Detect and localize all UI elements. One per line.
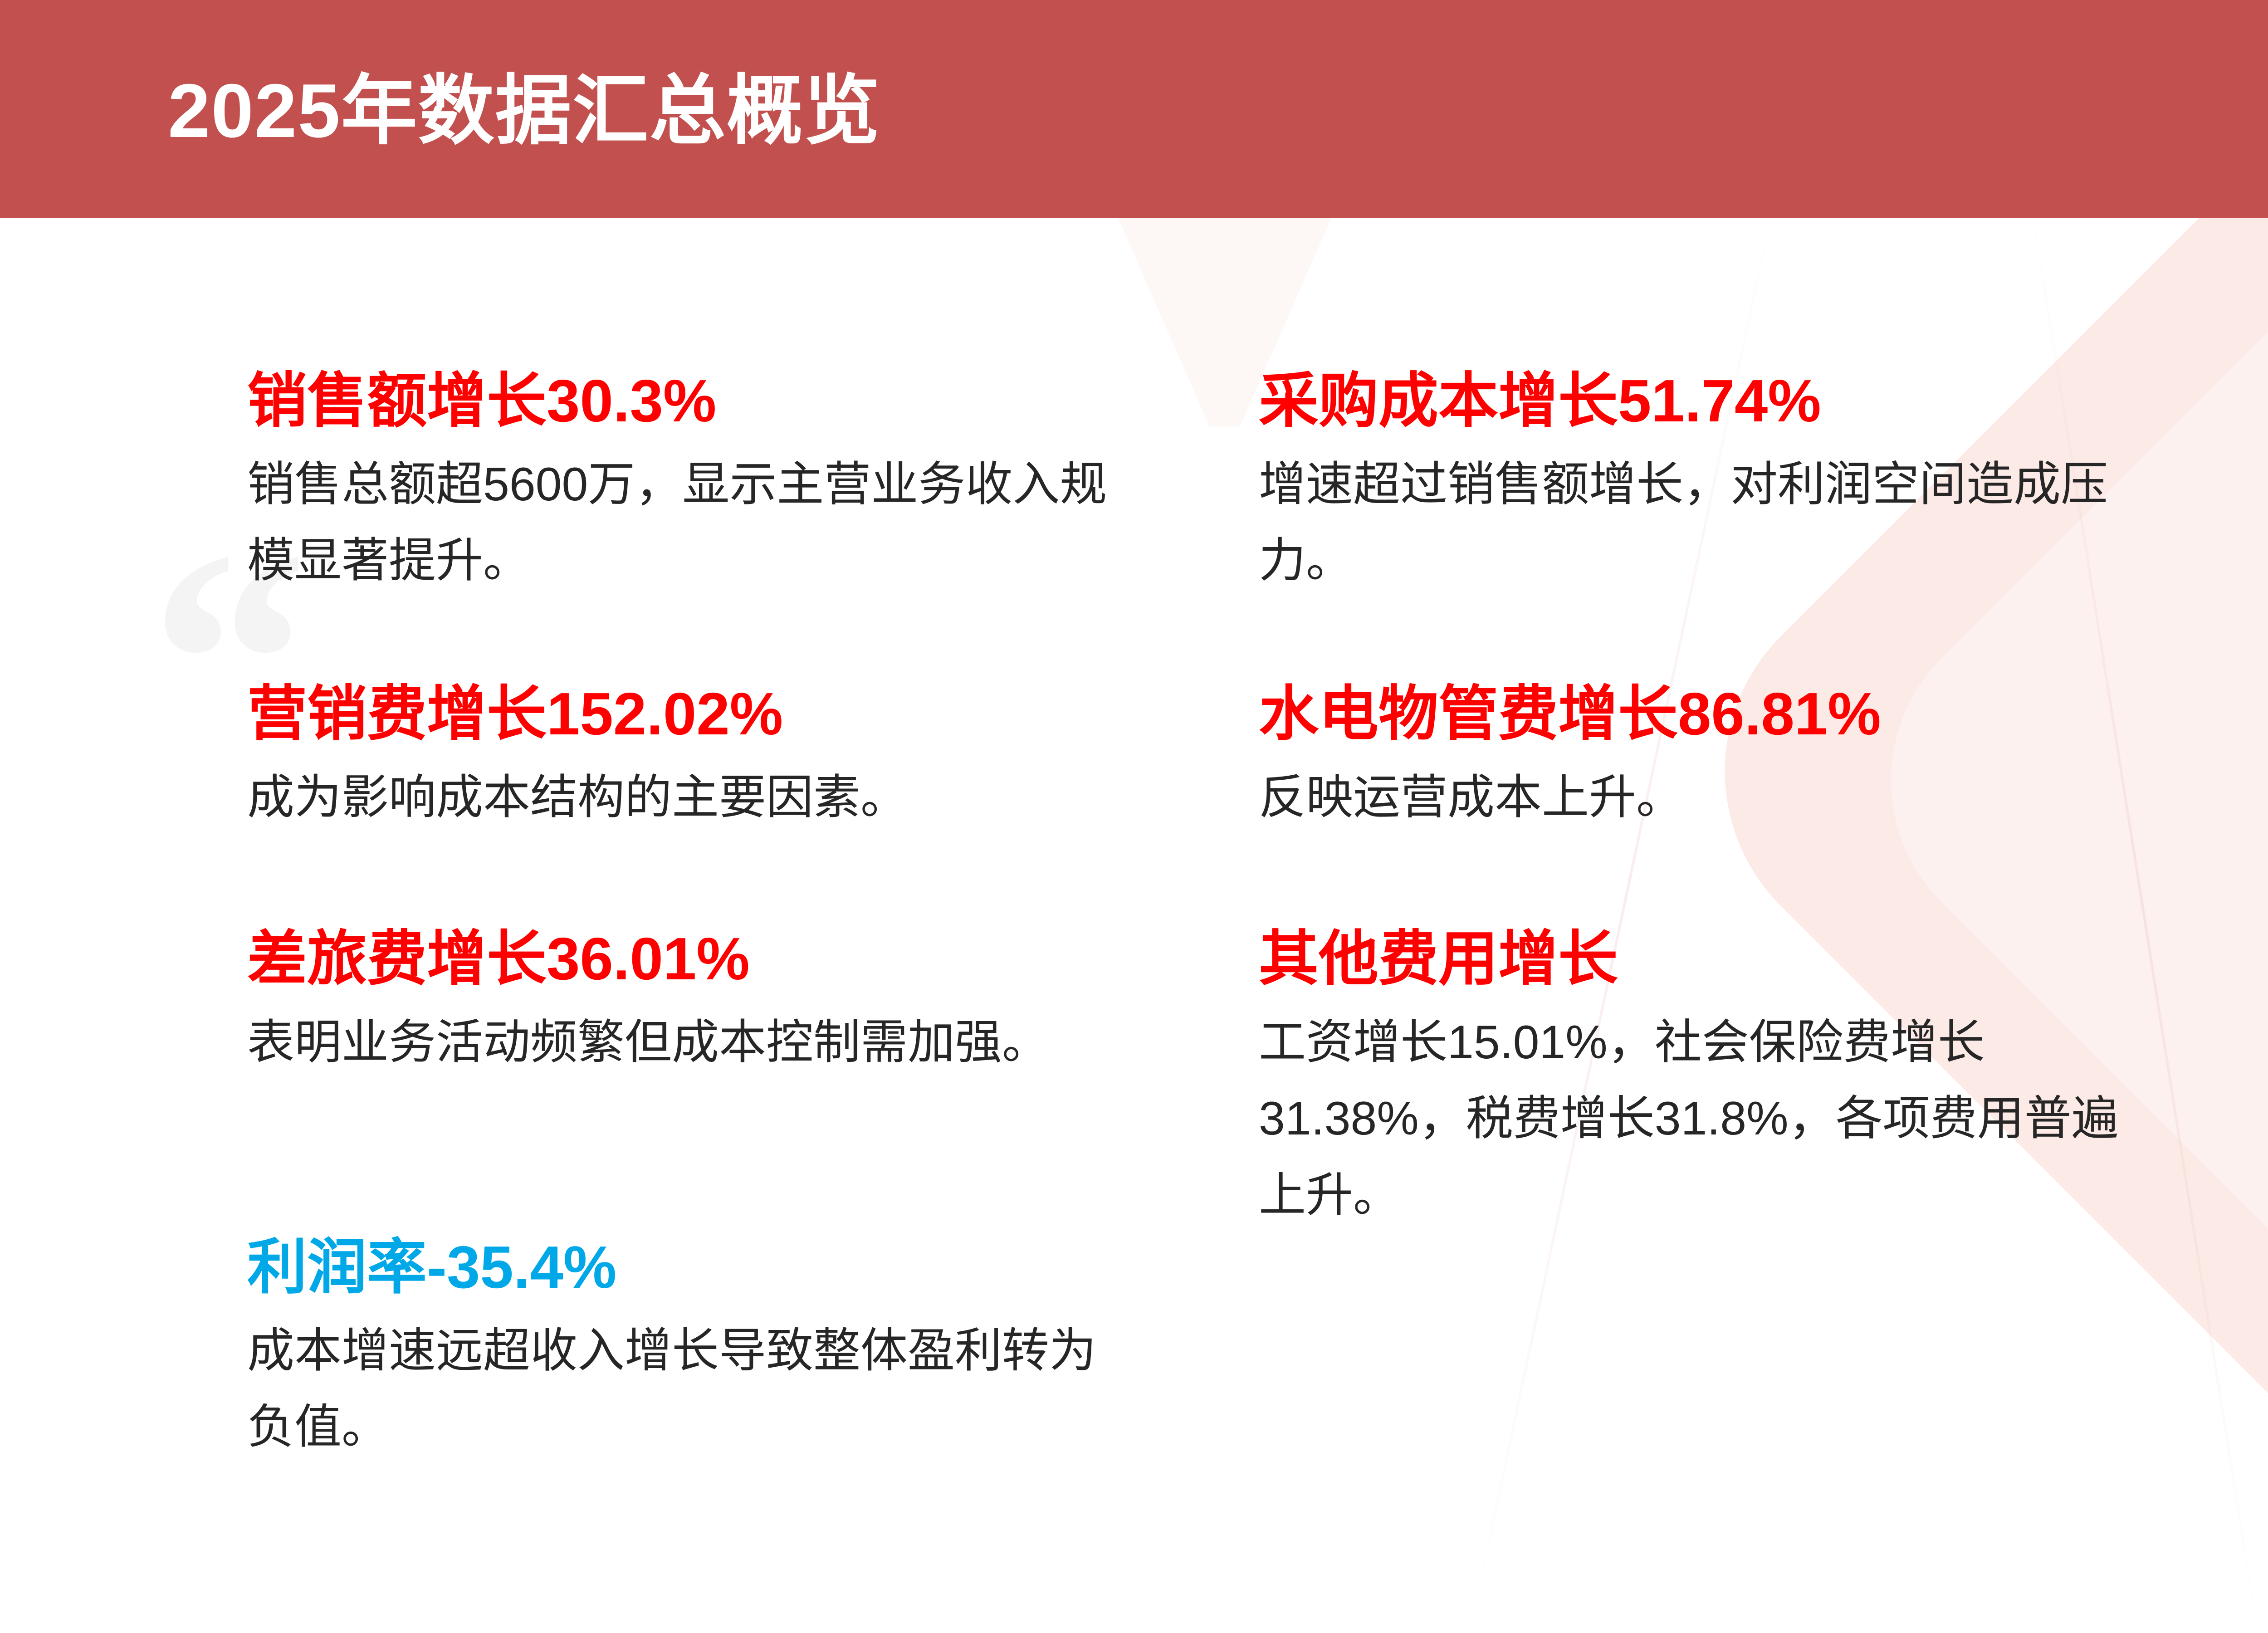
metric-block-profit-margin: 利润率-35.4% 成本增速远超收入增长导致整体盈利转为负值。 xyxy=(247,1234,1136,1466)
page-title: 2025年数据汇总概览 xyxy=(168,49,881,159)
metric-description: 成为影响成本结构的主要因素。 xyxy=(247,759,1136,836)
metric-heading: 差旅费增长36.01% xyxy=(247,925,1136,993)
metric-description: 反映运营成本上升。 xyxy=(1259,759,2148,836)
metric-block-utilities-cost: 水电物管费增长86.81% 反映运营成本上升。 xyxy=(1259,680,2148,836)
metric-block-sales: 销售额增长30.3% 销售总额超5600万，显示主营业务收入规模显著提升。 xyxy=(247,367,1136,599)
header-bar: 2025年数据汇总概览 xyxy=(0,0,2268,218)
slide-root: “ 2025年数据汇总概览 SCIENC xyxy=(0,0,2268,1633)
metric-heading: 销售额增长30.3% xyxy=(247,367,1136,435)
metric-heading: 采购成本增长51.74% xyxy=(1259,367,2148,435)
metric-block-marketing-expense: 营销费增长152.02% 成为影响成本结构的主要因素。 xyxy=(247,680,1136,836)
metric-description: 增速超过销售额增长，对利润空间造成压力。 xyxy=(1259,446,2148,599)
metric-heading: 其他费用增长 xyxy=(1259,925,2148,993)
metric-heading: 营销费增长152.02% xyxy=(247,680,1136,748)
metric-description: 表明业务活动频繁但成本控制需加强。 xyxy=(247,1004,1136,1081)
content-area: 销售额增长30.3% 销售总额超5600万，显示主营业务收入规模显著提升。 营销… xyxy=(0,218,2268,1633)
metric-description: 工资增长15.01%，社会保险费增长31.38%，税费增长31.8%，各项费用普… xyxy=(1259,1004,2148,1233)
metric-heading: 利润率-35.4% xyxy=(247,1234,1136,1301)
metric-description: 成本增速远超收入增长导致整体盈利转为负值。 xyxy=(247,1313,1136,1466)
metric-heading: 水电物管费增长86.81% xyxy=(1259,680,2148,748)
metric-block-other-expenses: 其他费用增长 工资增长15.01%，社会保险费增长31.38%，税费增长31.8… xyxy=(1259,925,2148,1233)
metric-block-travel-expense: 差旅费增长36.01% 表明业务活动频繁但成本控制需加强。 xyxy=(247,925,1136,1081)
metric-description: 销售总额超5600万，显示主营业务收入规模显著提升。 xyxy=(247,446,1136,599)
metric-block-procurement-cost: 采购成本增长51.74% 增速超过销售额增长，对利润空间造成压力。 xyxy=(1259,367,2148,599)
